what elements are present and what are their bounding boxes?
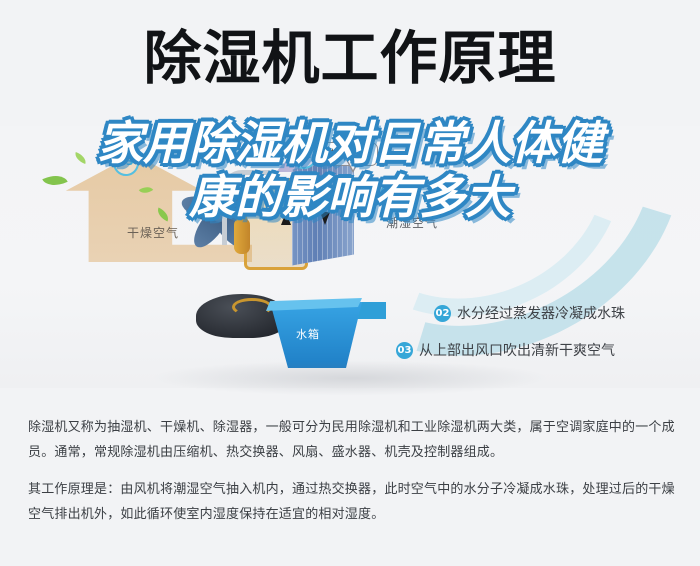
- badge-01: 01: [380, 182, 406, 208]
- step-text: 从上部出风口吹出清新干爽空气: [419, 340, 615, 360]
- callout-stem-inner-icon: [347, 159, 359, 170]
- flow-arrow-up-icon: [281, 212, 291, 225]
- step-line-02: 02 水分经过蒸发器冷凝成水珠: [434, 303, 625, 323]
- dry-air-label: 干燥空气: [127, 224, 179, 241]
- humid-air-label: 潮湿空气: [386, 214, 438, 231]
- poster-root: 除湿机工作原理 干燥空气 03: [0, 0, 700, 566]
- badge-02: 02: [291, 143, 317, 169]
- compressor-ring: [232, 298, 272, 316]
- step-text: 水分经过蒸发器冷凝成水珠: [457, 303, 625, 323]
- article-paragraph-2: 其工作原理是：由风机将潮湿空气抽入机内，通过热交换器，此时空气中的水分子冷凝成水…: [28, 477, 680, 527]
- title-band: 除湿机工作原理: [0, 0, 700, 130]
- article-body: 除湿机又称为抽湿机、干燥机、除湿器，一般可分为民用除湿机和工业除湿机两大类，属于…: [28, 415, 680, 539]
- receiver-cylinder: [234, 218, 250, 254]
- step-number: 02: [434, 305, 451, 322]
- step-line-03: 03 从上部出风口吹出清新干爽空气: [396, 340, 615, 360]
- flow-arrow-right-icon: [292, 190, 305, 200]
- illustration-shadow: [150, 360, 550, 396]
- leaf-icon: [73, 152, 88, 164]
- leaf-icon: [42, 170, 67, 191]
- step-number: 03: [396, 342, 413, 359]
- flow-arrow-down-icon: [320, 212, 330, 225]
- illustration-area: 干燥空气 03 02 热交换器 01 潮湿空: [0, 126, 700, 388]
- badge-03: 03: [113, 150, 139, 176]
- article-paragraph-1: 除湿机又称为抽湿机、干燥机、除湿器，一般可分为民用除湿机和工业除湿机两大类，属于…: [28, 415, 680, 465]
- page-title: 除湿机工作原理: [0, 22, 700, 94]
- water-tank-label: 水箱: [296, 326, 320, 342]
